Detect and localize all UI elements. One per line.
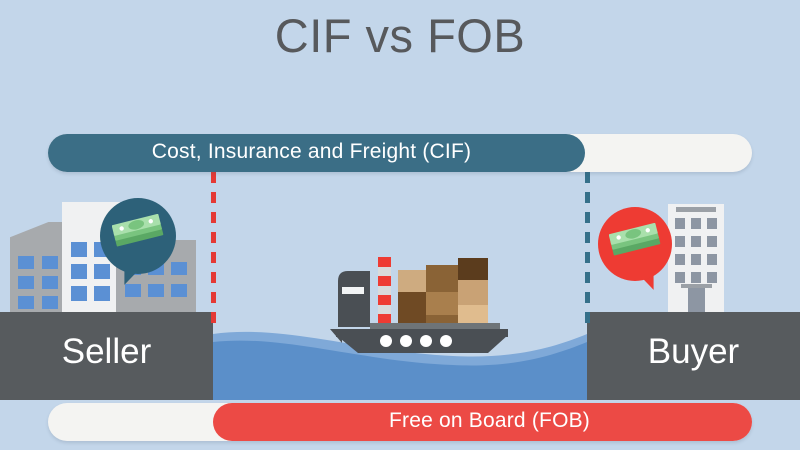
window: [71, 286, 87, 301]
window: [18, 276, 34, 289]
window: [707, 254, 717, 265]
porthole: [420, 335, 432, 347]
window: [71, 264, 87, 279]
porthole: [380, 335, 392, 347]
building-door: [688, 288, 705, 312]
money-stack-icon: [609, 223, 663, 267]
cargo-ship-icon: [330, 245, 520, 355]
cif-bar-label: Cost, Insurance and Freight (CIF): [152, 140, 471, 164]
window: [707, 272, 717, 283]
infographic-canvas: CIF vs FOB: [0, 0, 800, 450]
window: [71, 242, 87, 257]
fob-bar-track: Free on Board (FOB): [48, 403, 752, 441]
window: [18, 256, 34, 269]
window: [691, 254, 701, 265]
window: [691, 218, 701, 229]
buyer-money-bubble: [598, 207, 688, 307]
window: [707, 236, 717, 247]
page-title: CIF vs FOB: [0, 6, 800, 66]
fob-start-line: [211, 172, 216, 325]
window: [691, 236, 701, 247]
money-stack-icon: [112, 214, 166, 258]
cif-bar-fill: Cost, Insurance and Freight (CIF): [48, 134, 585, 172]
fob-bar-fill: Free on Board (FOB): [213, 403, 752, 441]
buyer-label: Buyer: [587, 332, 800, 372]
window: [707, 218, 717, 229]
cif-bar-track: Cost, Insurance and Freight (CIF): [48, 134, 752, 172]
seller-money-bubble: [100, 198, 190, 298]
window: [42, 256, 58, 269]
seller-label: Seller: [0, 332, 213, 372]
porthole: [440, 335, 452, 347]
porthole: [400, 335, 412, 347]
window: [691, 272, 701, 283]
window: [18, 296, 34, 309]
cif-end-line: [585, 172, 590, 323]
window: [42, 296, 58, 309]
window: [42, 276, 58, 289]
fob-bar-label: Free on Board (FOB): [389, 409, 590, 433]
